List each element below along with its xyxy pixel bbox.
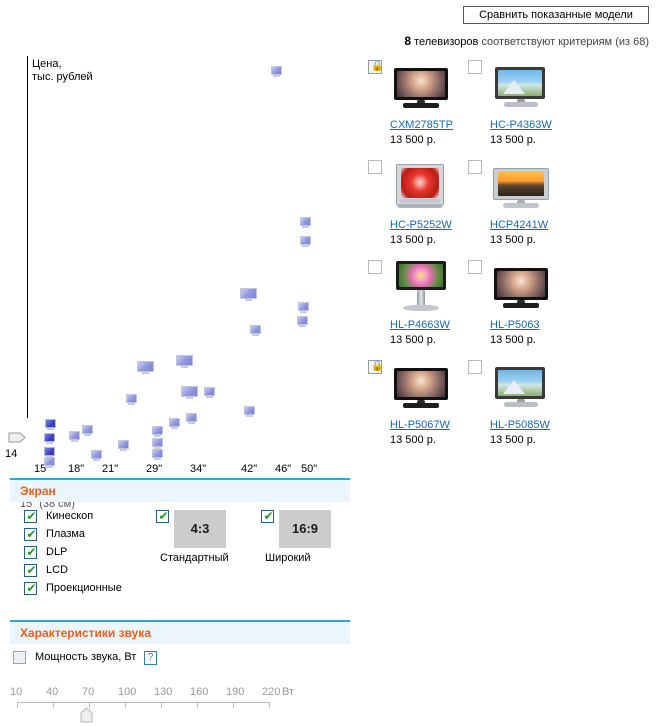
sound-filter-panel: Характеристики звука xyxy=(10,620,350,644)
scatter-point[interactable] xyxy=(299,217,312,229)
check-icon: ✔ xyxy=(26,528,37,541)
aspect-ratio-value[interactable]: 16:9 xyxy=(279,510,331,548)
scatter-point-screen xyxy=(126,394,137,403)
tv-thumbnail xyxy=(490,260,552,314)
aspect-ratio-caption: Широкий xyxy=(265,552,311,564)
scatter-point-screen xyxy=(169,418,180,427)
product-card: 🔒CXM2785TP13 500 р. xyxy=(368,60,468,160)
scatter-point-foot xyxy=(302,245,309,247)
aspect-ratio-value[interactable]: 4:3 xyxy=(174,510,226,548)
x-axis-tick-label: 46" xyxy=(275,463,291,475)
range-tick xyxy=(269,702,270,708)
scatter-point[interactable] xyxy=(68,431,81,443)
product-card: HCP4241W13 500 р. xyxy=(468,160,568,260)
range-tick xyxy=(53,702,54,708)
scatter-point-screen xyxy=(250,325,261,334)
scatter-point-foot xyxy=(273,75,280,77)
range-tick-label: 190 xyxy=(226,686,244,698)
scatter-point-foot xyxy=(93,459,100,461)
scatter-point[interactable] xyxy=(43,457,56,469)
scatter-point-foot xyxy=(171,427,178,429)
range-tick-label: 220 xyxy=(262,686,280,698)
scatter-point[interactable] xyxy=(151,426,164,438)
scatter-point-screen xyxy=(152,438,163,447)
product-name-link[interactable]: CXM2785TP xyxy=(390,119,468,131)
scatter-point-foot xyxy=(47,428,54,430)
range-tick-label: 130 xyxy=(154,686,172,698)
product-image[interactable] xyxy=(390,360,452,414)
scatter-point-screen xyxy=(137,361,154,372)
product-lock-icon[interactable]: 🔒 xyxy=(368,360,382,374)
price-range-slider-handle[interactable] xyxy=(8,431,26,444)
tv-thumbnail xyxy=(390,360,452,414)
scatter-point-foot xyxy=(128,403,135,405)
sound-power-range-slider[interactable]: Вт 104070100130160190220 xyxy=(10,686,340,722)
scatter-point-foot xyxy=(46,466,53,468)
scatter-point[interactable] xyxy=(43,433,56,445)
lock-icon: 🔒 xyxy=(371,361,381,373)
screen-filter-panel: Экран ✔Кинескоп✔Плазма✔DLP✔LCD✔Проекцион… xyxy=(10,478,350,614)
scatter-point-screen xyxy=(271,66,282,75)
results-text: соответствуют критериям xyxy=(481,36,612,48)
check-icon: ✔ xyxy=(158,510,169,523)
scatter-point[interactable] xyxy=(297,302,310,314)
x-axis-tick-label: 18" xyxy=(68,463,84,475)
scatter-point-foot xyxy=(188,422,195,424)
scatter-point[interactable] xyxy=(175,355,194,369)
scatter-point[interactable] xyxy=(249,325,262,337)
results-total: (из 68) xyxy=(615,36,649,48)
screen-type-checkbox[interactable]: ✔ xyxy=(24,582,37,595)
product-card: HC-P4363W13 500 р. xyxy=(468,60,568,160)
screen-type-row: ✔Кинескоп xyxy=(24,510,37,526)
x-axis-tick-label: 21" xyxy=(102,463,118,475)
tv-thumbnail xyxy=(390,160,452,214)
product-price: 13 500 р. xyxy=(490,434,536,446)
y-axis-line xyxy=(27,56,28,418)
product-price: 13 500 р. xyxy=(490,134,536,146)
scatter-point-screen xyxy=(152,449,163,458)
x-axis-tick-label: 42" xyxy=(241,463,257,475)
product-image[interactable] xyxy=(390,260,452,314)
tv-thumbnail xyxy=(490,160,552,214)
scatter-point-foot xyxy=(206,396,213,398)
results-count: 8 xyxy=(404,34,411,48)
aspect-ratio-checkbox[interactable]: ✔ xyxy=(156,510,169,523)
scatter-point-foot xyxy=(252,334,259,336)
scatter-point[interactable] xyxy=(270,66,283,78)
product-select-checkbox[interactable] xyxy=(468,160,482,174)
product-image[interactable] xyxy=(490,260,552,314)
scatter-point-screen xyxy=(152,426,163,435)
scatter-point[interactable] xyxy=(44,419,57,431)
product-select-checkbox[interactable] xyxy=(468,260,482,274)
screen-type-row: ✔Проекционные xyxy=(24,582,37,598)
product-image[interactable] xyxy=(490,360,552,414)
y-axis-title-line2: тыс. рублей xyxy=(32,71,93,84)
scatter-point-screen xyxy=(69,431,80,440)
scatter-point-foot xyxy=(181,366,188,368)
range-tick-label: 100 xyxy=(118,686,136,698)
aspect-ratio-caption: Стандартный xyxy=(160,552,229,564)
scatter-point-screen xyxy=(300,217,311,226)
results-summary: 8 телевизоров соответствуют критериям (и… xyxy=(377,34,649,48)
y-axis-min-value: 14 xyxy=(5,448,17,460)
screen-panel-body: ✔Кинескоп✔Плазма✔DLP✔LCD✔Проекционные ✔4… xyxy=(10,502,350,614)
scatter-point[interactable] xyxy=(136,361,155,375)
scatter-point[interactable] xyxy=(168,418,181,430)
range-tick xyxy=(161,702,162,708)
scatter-point-screen xyxy=(44,457,55,466)
compare-shown-models-button[interactable]: Сравнить показанные модели xyxy=(463,6,649,24)
product-image[interactable] xyxy=(490,60,552,114)
scatter-point[interactable] xyxy=(117,440,130,452)
scatter-point-foot xyxy=(46,442,53,444)
scatter-point-screen xyxy=(176,355,193,366)
scatter-point[interactable] xyxy=(239,288,258,302)
y-axis-title: Цена, тыс. рублей xyxy=(32,58,93,84)
scatter-point-screen xyxy=(45,419,56,428)
screen-type-label: Кинескоп xyxy=(46,510,93,522)
scatter-point-foot xyxy=(154,458,161,460)
product-card: HL-P506313 500 р. xyxy=(468,260,568,360)
scatter-point-screen xyxy=(44,447,55,456)
screen-type-checkbox[interactable]: ✔ xyxy=(24,546,37,559)
scatter-point-screen xyxy=(300,236,311,245)
sound-power-label: Мощность звука, Вт xyxy=(35,651,136,663)
range-tick xyxy=(197,702,198,708)
range-tick xyxy=(125,702,126,708)
aspect-ratio-checkbox[interactable]: ✔ xyxy=(261,510,274,523)
scatter-point[interactable] xyxy=(243,406,256,418)
scatter-point-foot xyxy=(246,415,253,417)
screen-type-row: ✔DLP xyxy=(24,546,37,562)
scatter-point-foot xyxy=(186,397,193,399)
scatter-point-screen xyxy=(298,302,309,311)
scatter-point-screen xyxy=(82,425,93,434)
screen-type-label: Плазма xyxy=(46,528,85,540)
scatter-point-foot xyxy=(245,299,252,301)
scatter-point-screen xyxy=(240,288,257,299)
tv-thumbnail xyxy=(390,260,452,314)
check-icon: ✔ xyxy=(26,510,37,523)
screen-type-checkbox[interactable]: ✔ xyxy=(24,510,37,523)
tv-thumbnail xyxy=(490,360,552,414)
check-icon: ✔ xyxy=(26,546,37,559)
range-unit-label: Вт xyxy=(282,686,294,698)
product-name-link[interactable]: HL-P5067W xyxy=(390,419,468,431)
tv-thumbnail xyxy=(390,60,452,114)
sound-panel-title: Характеристики звука xyxy=(10,622,350,644)
scatter-point-foot xyxy=(142,372,149,374)
scatter-point-screen xyxy=(181,386,198,397)
check-icon: ✔ xyxy=(26,564,37,577)
scatter-point-screen xyxy=(91,450,102,459)
product-price: 13 500 р. xyxy=(490,334,536,346)
x-axis-tick-label: 34" xyxy=(190,463,206,475)
product-card: HL-P4663W13 500 р. xyxy=(368,260,468,360)
product-name-link[interactable]: HCP4241W xyxy=(490,219,568,231)
product-select-checkbox[interactable] xyxy=(468,60,482,74)
screen-type-label: LCD xyxy=(46,564,68,576)
screen-type-row: ✔Плазма xyxy=(24,528,37,544)
product-name-link[interactable]: HL-P4663W xyxy=(390,319,468,331)
product-name-link[interactable]: HC-P5252W xyxy=(390,219,468,231)
scatter-point-foot xyxy=(154,435,161,437)
product-price: 13 500 р. xyxy=(490,234,536,246)
product-card: HC-P5252W13 500 р. xyxy=(368,160,468,260)
product-name-link[interactable]: HL-P5085W xyxy=(490,419,568,431)
check-icon: ✔ xyxy=(26,582,37,595)
product-price: 13 500 р. xyxy=(390,134,436,146)
product-price: 13 500 р. xyxy=(390,234,436,246)
screen-type-label: DLP xyxy=(46,546,67,558)
scatter-point[interactable] xyxy=(90,450,103,462)
x-axis-tick-label: 29" xyxy=(146,463,162,475)
help-icon[interactable]: ? xyxy=(144,651,157,665)
product-card: HL-P5085W13 500 р. xyxy=(468,360,568,460)
scatter-point-screen xyxy=(204,387,215,396)
product-price: 13 500 р. xyxy=(390,334,436,346)
scatter-point-foot xyxy=(71,440,78,442)
scatter-point[interactable] xyxy=(185,413,198,425)
range-tick xyxy=(17,702,18,708)
range-tick-label: 160 xyxy=(190,686,208,698)
sound-power-row: Мощность звука, Вт xyxy=(13,651,26,667)
scatter-point-screen xyxy=(186,413,197,422)
scatter-point[interactable] xyxy=(296,316,309,328)
screen-type-checkbox[interactable]: ✔ xyxy=(24,564,37,577)
scatter-point[interactable] xyxy=(125,394,138,406)
scatter-point-screen xyxy=(44,433,55,442)
product-select-checkbox[interactable] xyxy=(468,360,482,374)
scatter-point-screen xyxy=(118,440,129,449)
scatter-point-screen xyxy=(297,316,308,325)
range-tick xyxy=(233,702,234,708)
range-slider-handle[interactable] xyxy=(80,707,93,723)
scatter-point-foot xyxy=(300,311,307,313)
scatter-point[interactable] xyxy=(203,387,216,399)
product-image[interactable] xyxy=(390,60,452,114)
product-image[interactable] xyxy=(390,160,452,214)
scatter-point-foot xyxy=(120,449,127,451)
tv-thumbnail xyxy=(490,60,552,114)
sound-power-checkbox[interactable] xyxy=(13,651,26,664)
screen-type-row: ✔LCD xyxy=(24,564,37,580)
product-select-checkbox[interactable] xyxy=(368,260,382,274)
scatter-point-screen xyxy=(244,406,255,415)
product-card: 🔒HL-P5067W13 500 р. xyxy=(368,360,468,460)
product-lock-icon[interactable]: 🔒 xyxy=(368,60,382,74)
range-tick-label: 40 xyxy=(46,686,58,698)
screen-type-checkbox[interactable]: ✔ xyxy=(24,528,37,541)
y-axis-title-line1: Цена, xyxy=(32,58,93,71)
range-tick-label: 10 xyxy=(10,686,22,698)
screen-type-label: Проекционные xyxy=(46,582,122,594)
product-image[interactable] xyxy=(490,160,552,214)
product-grid: 🔒CXM2785TP13 500 р.HC-P4363W13 500 р.HC-… xyxy=(368,60,660,560)
scatter-point-foot xyxy=(84,434,91,436)
scatter-point-foot xyxy=(299,325,306,327)
product-price: 13 500 р. xyxy=(390,434,436,446)
product-select-checkbox[interactable] xyxy=(368,160,382,174)
scatter-point-foot xyxy=(302,226,309,228)
product-name-link[interactable]: HC-P4363W xyxy=(490,119,568,131)
scatter-point[interactable] xyxy=(299,236,312,248)
price-vs-diagonal-scatter-chart: Цена, тыс. рублей 14 15"18"21"29"34"42"4… xyxy=(0,48,355,438)
x-axis-tick-label: 50" xyxy=(301,463,317,475)
scatter-point[interactable] xyxy=(180,386,199,400)
results-noun: телевизоров xyxy=(414,36,478,48)
lock-icon: 🔒 xyxy=(371,61,381,73)
scatter-point[interactable] xyxy=(151,449,164,461)
check-icon: ✔ xyxy=(263,510,274,523)
scatter-point[interactable] xyxy=(81,425,94,437)
screen-panel-title: Экран xyxy=(10,480,350,502)
range-tick-label: 70 xyxy=(82,686,94,698)
product-name-link[interactable]: HL-P5063 xyxy=(490,319,568,331)
